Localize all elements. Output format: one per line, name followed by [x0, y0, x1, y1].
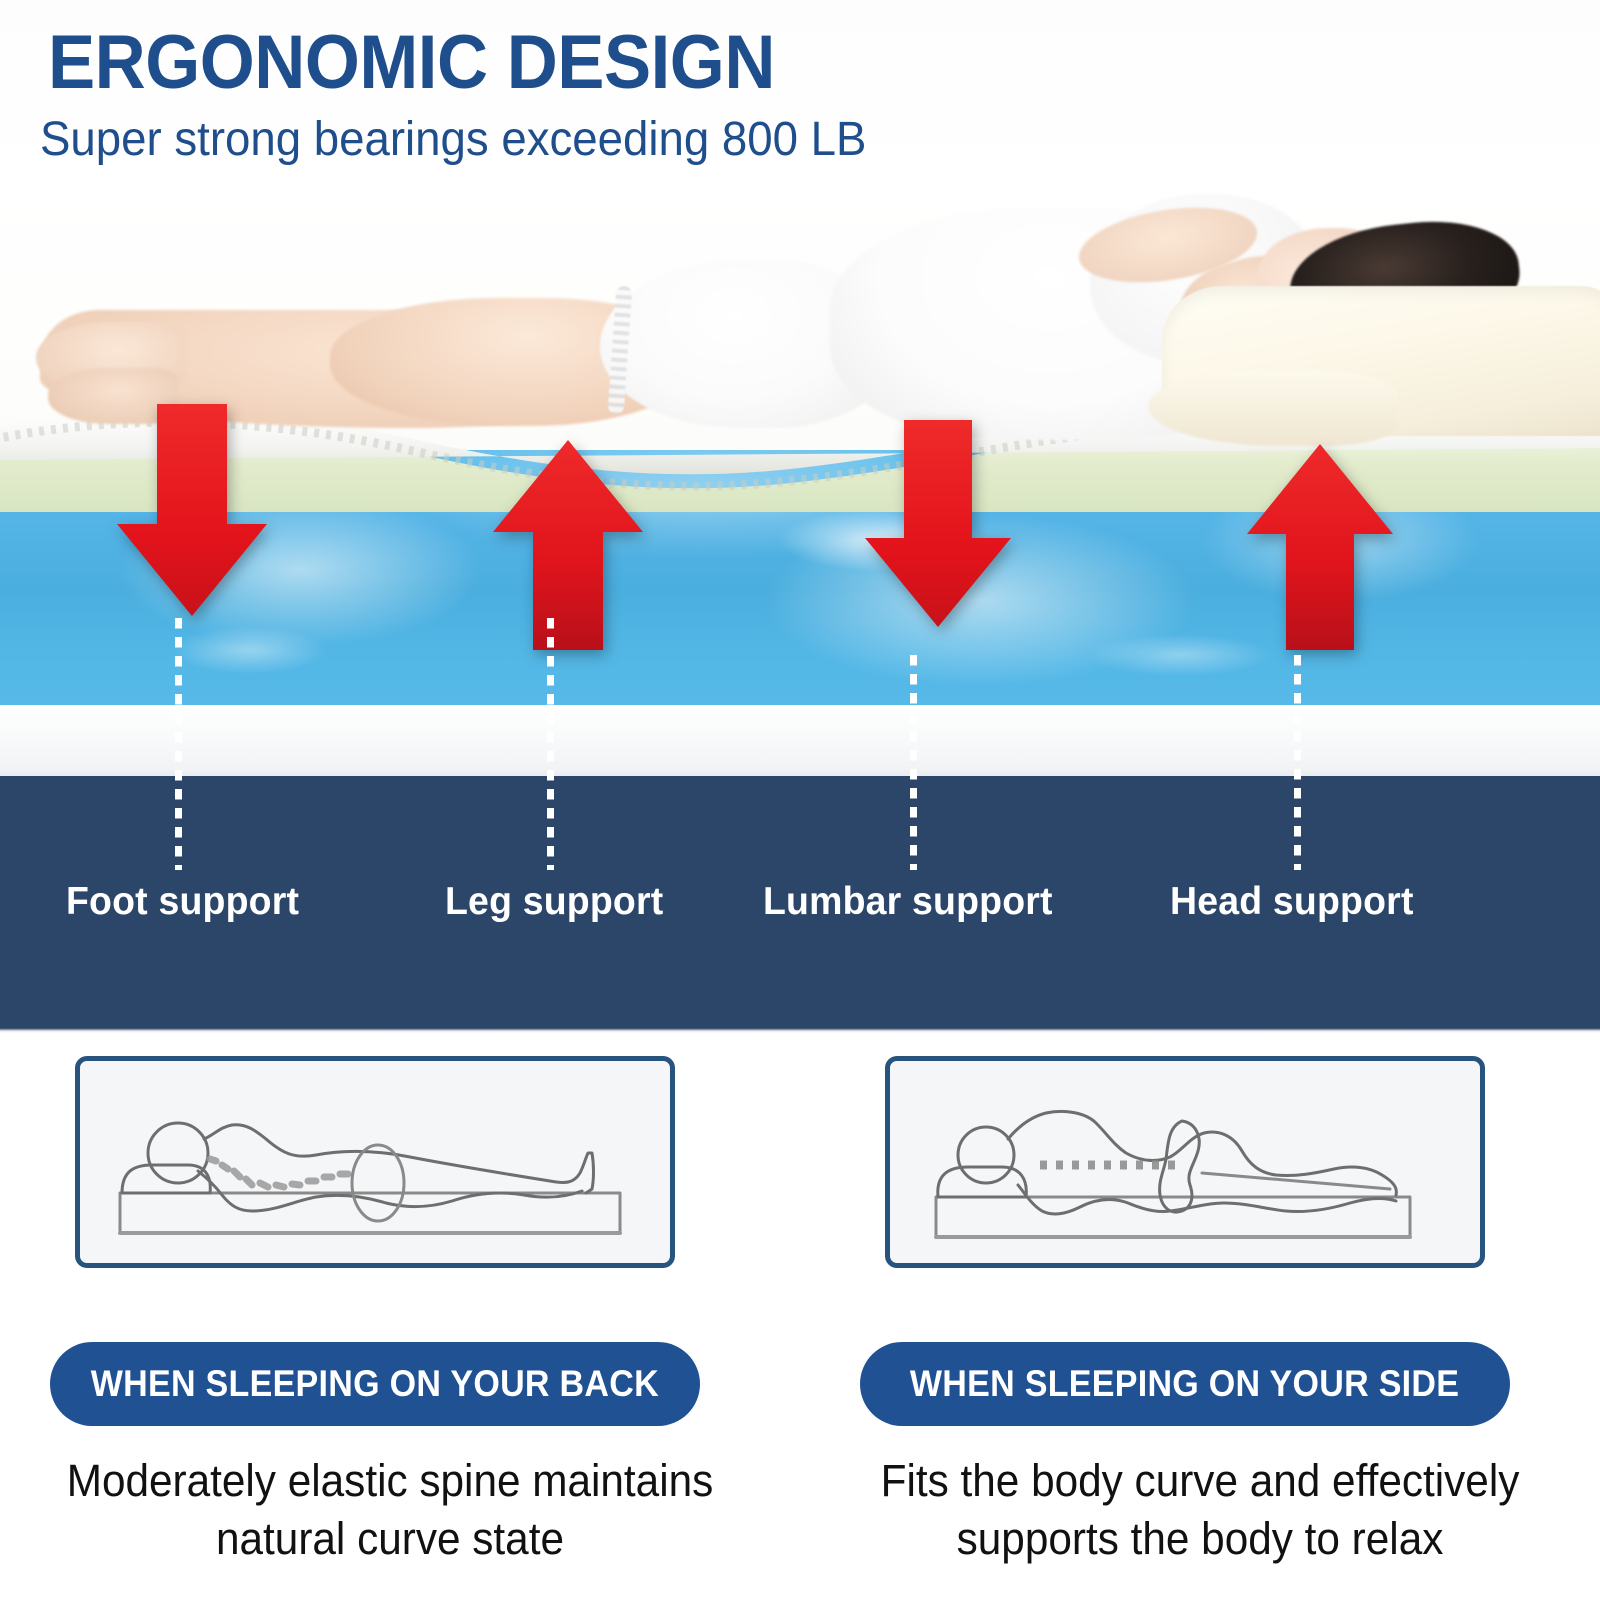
page-subtitle: Super strong bearings exceeding 800 LB: [40, 114, 866, 166]
head-arrow: [1242, 444, 1398, 652]
support-label-head: Head support: [1170, 880, 1414, 924]
support-label-foot: Foot support: [66, 880, 299, 924]
lumbar-arrow: [860, 420, 1016, 630]
side-caption-line-2: supports the body to relax: [843, 1510, 1557, 1568]
lumbar-connector-line: [910, 655, 917, 870]
support-label-lumbar: Lumbar support: [763, 880, 1053, 924]
leg-connector-line: [547, 618, 554, 870]
head-connector-line: [1294, 655, 1301, 870]
pillow-neck-contour: [1148, 370, 1398, 446]
back-sleeper-pill-label: WHEN SLEEPING ON YOUR BACK: [91, 1363, 659, 1405]
back-sleeper-card: [75, 1056, 675, 1268]
band-bottom-edge: [0, 1028, 1600, 1033]
side-sleeper-diagram: [890, 1061, 1480, 1263]
hero-photo: [0, 182, 1600, 705]
support-label-leg: Leg support: [445, 880, 663, 924]
back-sleeper-caption: Moderately elastic spine maintains natur…: [33, 1452, 747, 1568]
foot-connector-line: [175, 618, 182, 870]
side-sleeper-card: [885, 1056, 1485, 1268]
back-sleeper-diagram: [80, 1061, 670, 1263]
side-sleeper-caption: Fits the body curve and effectively supp…: [843, 1452, 1557, 1568]
back-sleeper-pill[interactable]: WHEN SLEEPING ON YOUR BACK: [50, 1342, 700, 1426]
infographic-root: ERGONOMIC DESIGN Super strong bearings e…: [0, 0, 1600, 1600]
header: ERGONOMIC DESIGN Super strong bearings e…: [0, 0, 1600, 182]
side-caption-line-1: Fits the body curve and effectively: [843, 1452, 1557, 1510]
side-sleeper-pill[interactable]: WHEN SLEEPING ON YOUR SIDE: [860, 1342, 1510, 1426]
back-caption-line-2: natural curve state: [33, 1510, 747, 1568]
foot-arrow: [112, 404, 272, 619]
page-title: ERGONOMIC DESIGN: [48, 24, 775, 102]
leg-arrow: [488, 440, 648, 652]
back-caption-line-1: Moderately elastic spine maintains: [33, 1452, 747, 1510]
separator-gap: [0, 705, 1600, 778]
side-sleeper-pill-label: WHEN SLEEPING ON YOUR SIDE: [910, 1363, 1459, 1405]
